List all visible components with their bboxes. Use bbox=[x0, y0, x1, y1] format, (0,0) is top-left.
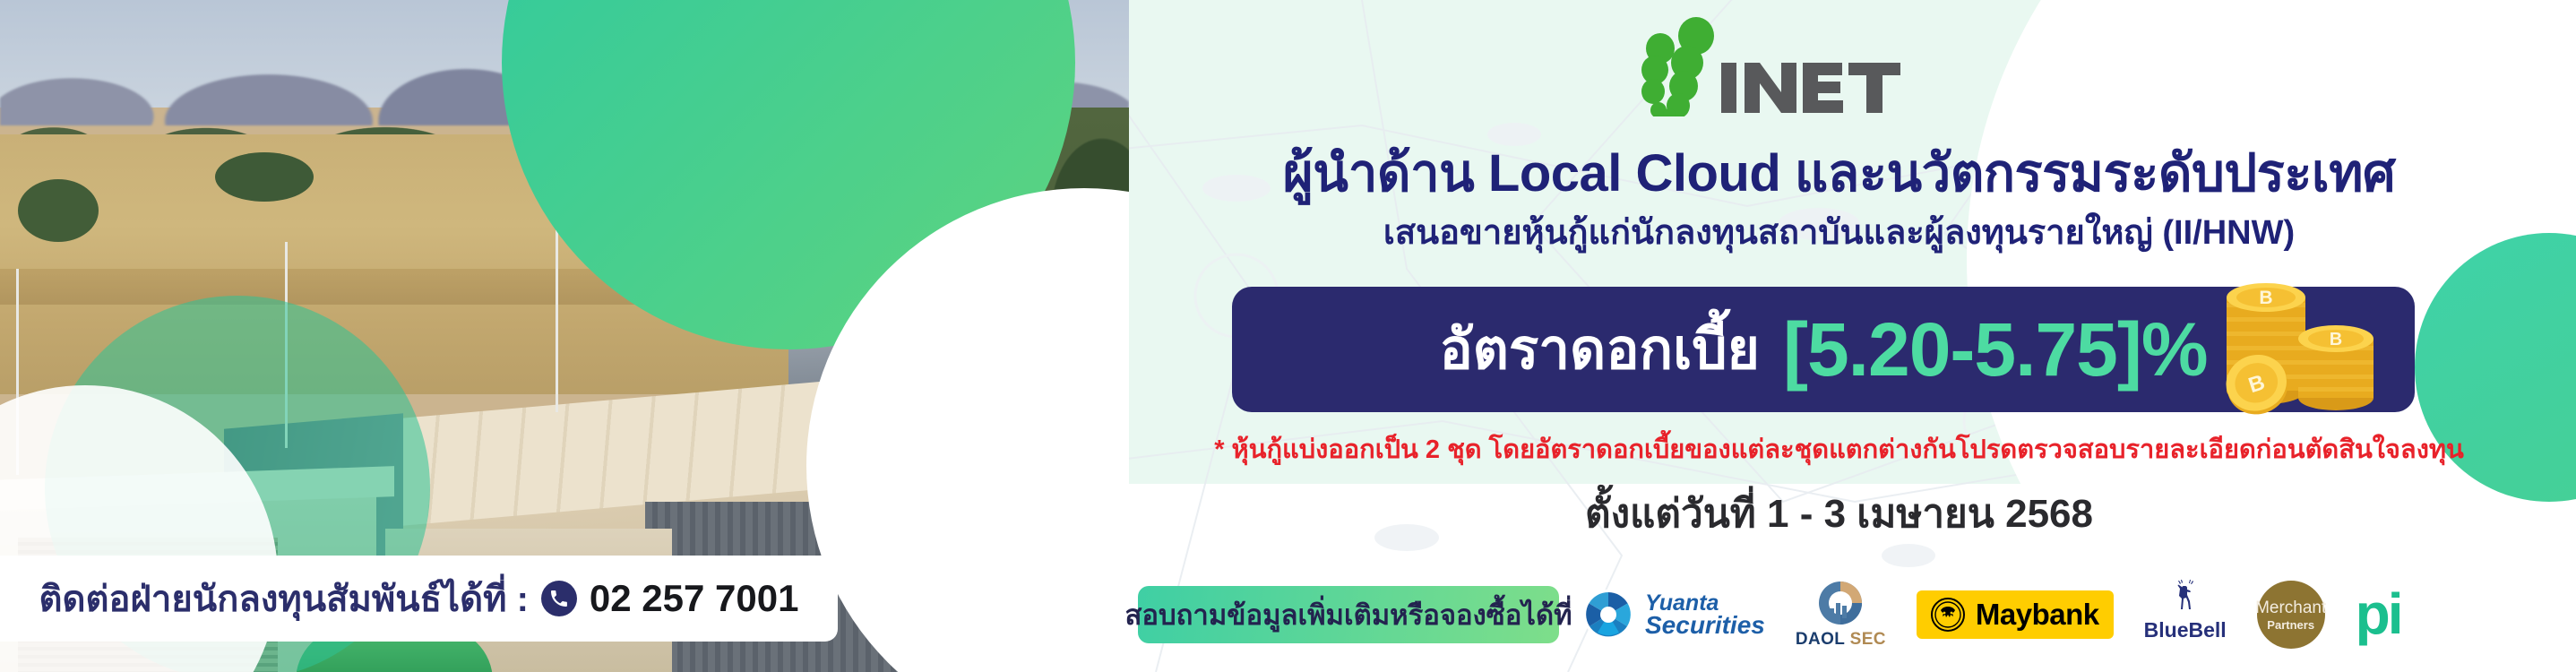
banner-content: ผู้นำด้าน Local Cloud และนวัตกรรมระดับปร… bbox=[1102, 0, 2576, 672]
pi-wordmark-icon: pi bbox=[2356, 591, 2401, 637]
partner-logo-pi-securities[interactable]: pi bbox=[2356, 579, 2401, 650]
yuanta-star-icon bbox=[1582, 589, 1634, 641]
partner-logo-yuanta-securities[interactable]: Yuanta Securities bbox=[1582, 579, 1765, 650]
gold-coins-icon: B bbox=[2210, 256, 2399, 419]
partner-logo-maybank[interactable]: Maybank bbox=[1917, 590, 2114, 639]
maybank-tiger-icon bbox=[1931, 598, 1965, 632]
maybank-label: Maybank bbox=[1976, 598, 2099, 632]
photo-tree bbox=[18, 179, 99, 242]
daol-circle-icon bbox=[1816, 579, 1865, 627]
merchant-line2: Partners bbox=[2267, 618, 2314, 632]
interest-rate-value: [5.20-5.75]% bbox=[1783, 306, 2208, 393]
interest-rate-box: อัตราดอกเบี้ย [5.20-5.75]% bbox=[1232, 287, 2415, 412]
investor-relations-contact: ติดต่อฝ่ายนักลงทุนสัมพันธ์ได้ที่ : 02 25… bbox=[0, 556, 838, 642]
inquire-subscribe-button[interactable]: สอบถามข้อมูลเพิ่มเติมหรือจองซื้อได้ที่ bbox=[1138, 586, 1559, 643]
partner-logo-daol-sec[interactable]: DAOL SEC bbox=[1796, 579, 1886, 650]
page-title: ผู้นำด้าน Local Cloud และนวัตกรรมระดับปร… bbox=[1102, 131, 2576, 214]
yuanta-line2: Securities bbox=[1645, 614, 1765, 637]
svg-text:B: B bbox=[2259, 288, 2272, 308]
daol-text-primary: DAOL bbox=[1796, 630, 1845, 649]
rate-disclaimer: * หุ้นกู้แบ่งออกเป็น 2 ชุด โดยอัตราดอกเบ… bbox=[1102, 428, 2576, 470]
page-subtitle: เสนอขายหุ้นกู้แก่นักลงทุนสถาบันและผู้ลงท… bbox=[1102, 204, 2576, 259]
inet-bond-offering-banner: ติดต่อฝ่ายนักลงทุนสัมพันธ์ได้ที่ : 02 25… bbox=[0, 0, 2576, 672]
inet-logo bbox=[1590, 16, 1904, 116]
contact-label: ติดต่อฝ่ายนักลงทุนสัมพันธ์ได้ที่ : bbox=[39, 570, 529, 627]
photo-pole bbox=[556, 224, 558, 412]
phone-icon bbox=[541, 581, 577, 616]
contact-phone-number: 02 257 7001 bbox=[590, 577, 799, 620]
merchant-line1: Merchant bbox=[2255, 599, 2326, 618]
bluebell-deer-icon bbox=[2167, 579, 2203, 616]
photo-tree bbox=[215, 152, 314, 202]
partner-logo-merchant-partners[interactable]: Merchant Partners bbox=[2257, 579, 2325, 650]
svg-text:B: B bbox=[2330, 330, 2342, 349]
interest-rate-label: อัตราดอกเบี้ย bbox=[1439, 306, 1760, 393]
bluebell-label: BlueBell bbox=[2144, 618, 2227, 642]
merchant-circle-icon: Merchant Partners bbox=[2257, 581, 2325, 649]
partner-logo-bluebell[interactable]: BlueBell bbox=[2144, 579, 2227, 650]
offering-date-range: ตั้งแต่วันที่ 1 - 3 เมษายน 2568 bbox=[1102, 482, 2576, 545]
daol-text-secondary: SEC bbox=[1850, 630, 1886, 649]
partner-logos: Yuanta Securities bbox=[1582, 579, 2576, 650]
cta-and-partners-row: สอบถามข้อมูลเพิ่มเติมหรือจองซื้อได้ที่ bbox=[1138, 573, 2576, 656]
